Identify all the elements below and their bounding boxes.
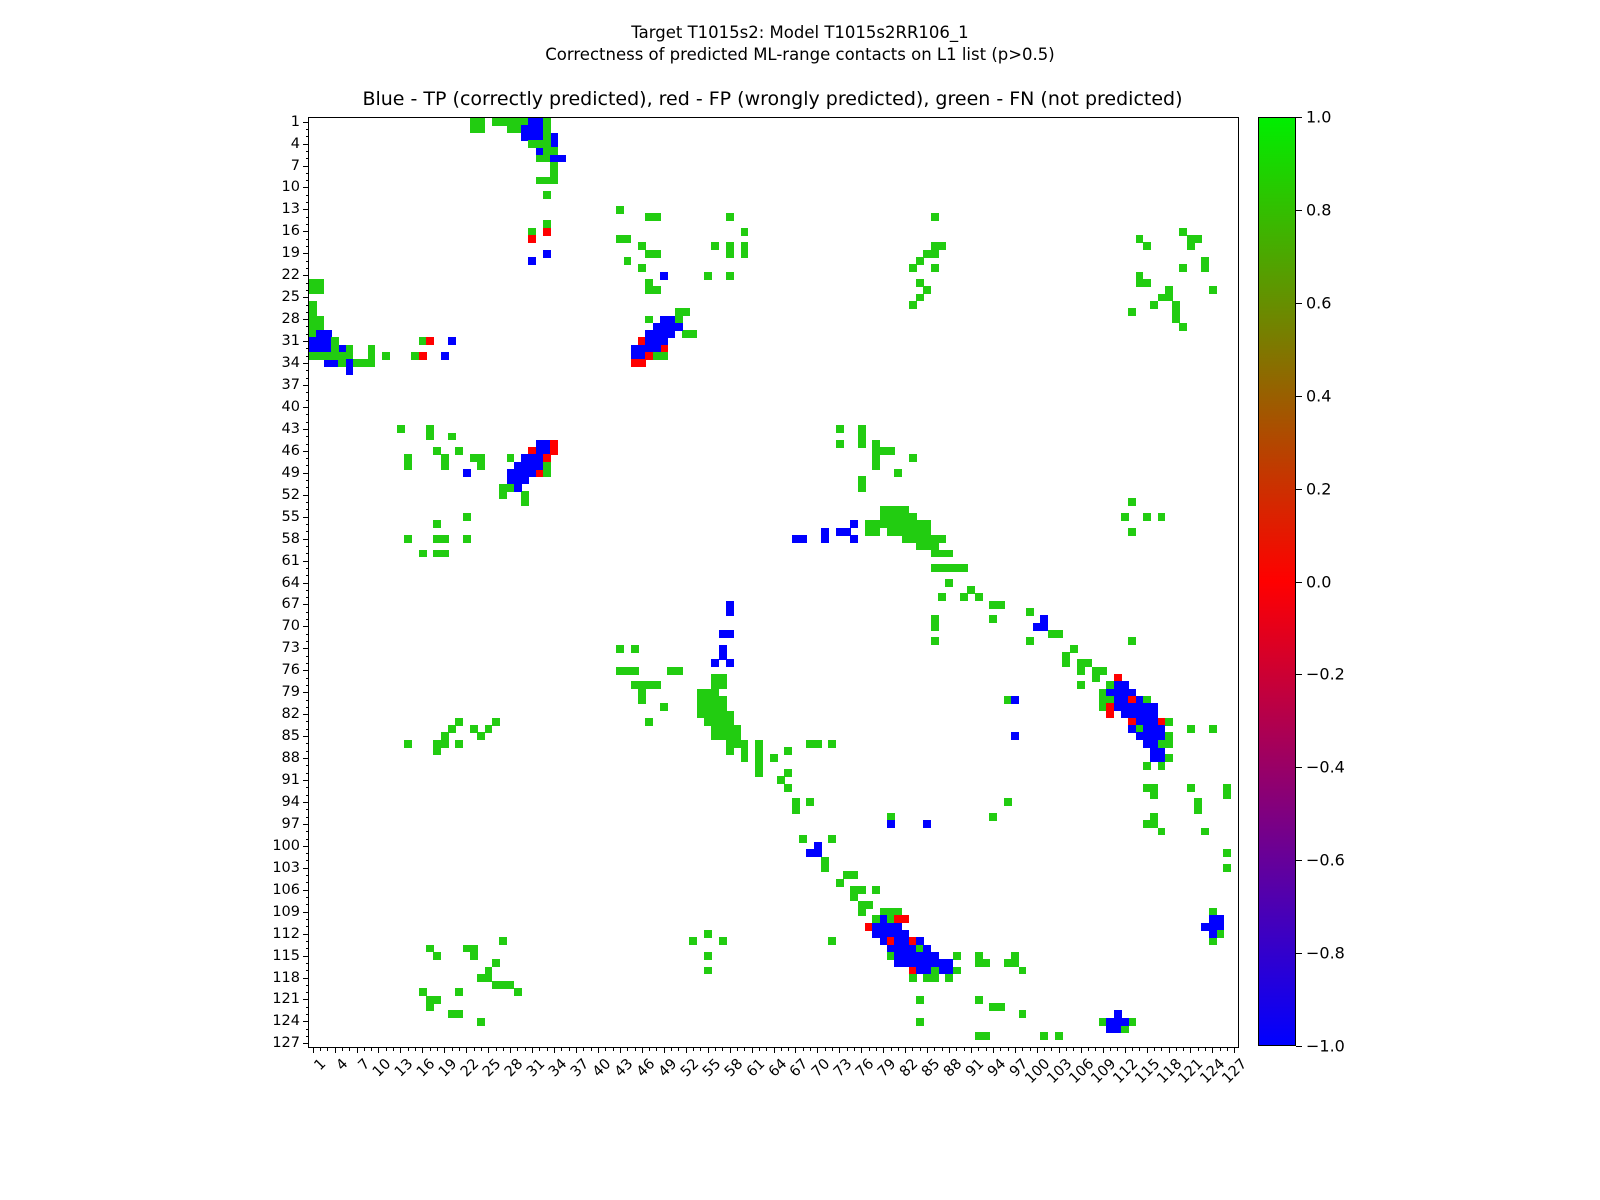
contact-cell — [836, 440, 844, 448]
contact-cell — [624, 235, 632, 243]
contact-cell — [667, 330, 675, 338]
contact-cell — [1055, 1032, 1063, 1040]
y-tick-minor — [306, 1014, 310, 1015]
contact-cell — [726, 250, 734, 258]
x-tick-minor — [393, 1047, 394, 1051]
suptitle-line-2: Correctness of predicted ML-range contac… — [0, 44, 1600, 66]
contact-cell — [1048, 630, 1056, 638]
contact-cell — [1201, 264, 1209, 272]
x-tick-minor — [781, 1047, 782, 1051]
contact-cell — [470, 952, 478, 960]
y-tick-label: 70 — [282, 618, 300, 634]
colorbar-tick — [1296, 953, 1302, 954]
contact-cell — [1158, 513, 1166, 521]
y-tick-minor — [306, 970, 310, 971]
colorbar-tick — [1296, 767, 1302, 768]
contact-cell — [1092, 674, 1100, 682]
y-tick-major — [303, 473, 309, 474]
x-tick-major — [1015, 1047, 1016, 1053]
y-tick-major — [303, 297, 309, 298]
contact-cell — [653, 286, 661, 294]
x-tick-minor — [912, 1047, 913, 1051]
contact-cell — [938, 242, 946, 250]
y-tick-minor — [306, 1007, 310, 1008]
contact-cell — [660, 337, 668, 345]
x-tick-minor — [693, 1047, 694, 1051]
x-tick-minor — [408, 1047, 409, 1051]
contact-cell — [1150, 301, 1158, 309]
contact-cell — [938, 593, 946, 601]
contact-cell — [828, 740, 836, 748]
y-tick-minor — [306, 180, 310, 181]
x-tick-label: 40 — [590, 1056, 614, 1080]
y-tick-major — [303, 670, 309, 671]
contact-cell — [1128, 308, 1136, 316]
colorbar-tick — [1296, 582, 1302, 583]
colorbar-tick — [1296, 674, 1302, 675]
contact-cell — [894, 915, 902, 923]
y-tick-minor — [306, 246, 310, 247]
contact-cell — [792, 806, 800, 814]
x-tick-major — [817, 1047, 818, 1053]
contact-cell — [463, 513, 471, 521]
contact-cell — [448, 337, 456, 345]
x-tick-minor — [386, 1047, 387, 1051]
x-tick-minor — [569, 1047, 570, 1051]
x-tick-major — [686, 1047, 687, 1053]
x-tick-minor — [1139, 1047, 1140, 1051]
y-tick-minor — [306, 1029, 310, 1030]
y-tick-minor — [306, 290, 310, 291]
contact-cell — [872, 528, 880, 536]
contact-cell — [441, 550, 449, 558]
y-tick-major — [303, 319, 309, 320]
contact-cell — [1128, 498, 1136, 506]
contact-cell — [784, 784, 792, 792]
y-tick-label: 16 — [282, 223, 300, 239]
contact-cell — [368, 359, 376, 367]
x-tick-minor — [1161, 1047, 1162, 1051]
contact-cell — [741, 228, 749, 236]
x-tick-label: 55 — [700, 1056, 724, 1080]
contact-cell — [923, 974, 931, 982]
contact-cell — [1165, 754, 1173, 762]
y-tick-label: 91 — [282, 772, 300, 788]
x-tick-minor — [481, 1047, 482, 1051]
y-tick-minor — [306, 663, 310, 664]
contact-cell — [858, 484, 866, 492]
x-tick-minor — [320, 1047, 321, 1051]
contact-cell — [543, 469, 551, 477]
x-tick-major — [1169, 1047, 1170, 1053]
x-tick-minor — [1066, 1047, 1067, 1051]
colorbar-tick-label: 0.6 — [1306, 293, 1331, 312]
x-tick-major — [554, 1047, 555, 1053]
contact-cell — [1026, 608, 1034, 616]
contact-cell — [514, 484, 522, 492]
contact-cell — [1194, 806, 1202, 814]
contact-cell — [404, 462, 412, 470]
x-tick-minor — [452, 1047, 453, 1051]
contact-cell — [821, 535, 829, 543]
x-tick-minor — [942, 1047, 943, 1051]
contact-cell — [931, 974, 939, 982]
y-tick-minor — [306, 817, 310, 818]
x-tick-minor — [722, 1047, 723, 1051]
x-tick-minor — [649, 1047, 650, 1051]
contact-cell — [660, 703, 668, 711]
x-tick-minor — [700, 1047, 701, 1051]
y-tick-minor — [306, 882, 310, 883]
y-tick-minor — [306, 195, 310, 196]
contact-cell — [741, 250, 749, 258]
contact-cell — [945, 579, 953, 587]
y-tick-minor — [306, 202, 310, 203]
x-tick-minor — [744, 1047, 745, 1051]
y-tick-minor — [306, 729, 310, 730]
contact-cell — [821, 857, 829, 865]
contact-cell — [1128, 528, 1136, 536]
contact-cell — [865, 901, 873, 909]
y-tick-major — [303, 999, 309, 1000]
y-tick-minor — [306, 634, 310, 635]
contact-cell — [455, 447, 463, 455]
contact-cell — [477, 1018, 485, 1026]
x-tick-label: 37 — [568, 1056, 592, 1080]
y-tick-major — [303, 1021, 309, 1022]
contact-cell — [836, 425, 844, 433]
contact-cell — [1026, 637, 1034, 645]
contact-cell — [455, 988, 463, 996]
y-tick-minor — [306, 414, 310, 415]
contact-cell — [638, 696, 646, 704]
y-tick-minor — [306, 444, 310, 445]
x-tick-minor — [678, 1047, 679, 1051]
contact-cell — [521, 498, 529, 506]
contact-cell — [543, 191, 551, 199]
y-tick-minor — [306, 326, 310, 327]
contact-cell — [1143, 820, 1151, 828]
x-tick-minor — [342, 1047, 343, 1051]
colorbar-tick — [1296, 210, 1302, 211]
contact-cell — [909, 974, 917, 982]
contact-cell — [433, 520, 441, 528]
y-tick-minor — [306, 919, 310, 920]
contact-cell — [528, 469, 536, 477]
y-tick-major — [303, 451, 309, 452]
contact-cell — [726, 630, 734, 638]
y-tick-minor — [306, 524, 310, 525]
x-tick-minor — [1030, 1047, 1031, 1051]
y-tick-label: 28 — [282, 311, 300, 327]
contact-cell — [887, 820, 895, 828]
contact-cell — [404, 535, 412, 543]
y-tick-major — [303, 122, 309, 123]
y-tick-minor — [306, 458, 310, 459]
x-tick-major — [730, 1047, 731, 1053]
y-tick-minor — [306, 217, 310, 218]
contact-cell — [1136, 272, 1144, 280]
y-tick-label: 106 — [272, 882, 300, 898]
y-tick-major — [303, 407, 309, 408]
x-tick-major — [993, 1047, 994, 1053]
colorbar-tick-label: −0.2 — [1306, 665, 1345, 684]
contact-cell — [689, 937, 697, 945]
contact-cell — [653, 213, 661, 221]
contact-cell — [1223, 849, 1231, 857]
contact-cell — [645, 718, 653, 726]
x-tick-minor — [561, 1047, 562, 1051]
contact-cell — [704, 930, 712, 938]
colorbar[interactable]: 1.00.80.60.40.20.0−0.2−0.4−0.6−0.8−1.0 — [1258, 117, 1296, 1046]
contact-cell — [448, 725, 456, 733]
y-tick-minor — [306, 853, 310, 854]
contact-cell — [1194, 235, 1202, 243]
contact-cell — [419, 352, 427, 360]
y-tick-minor — [306, 575, 310, 576]
x-tick-minor — [1176, 1047, 1177, 1051]
contact-cell — [872, 886, 880, 894]
contact-cell — [543, 250, 551, 258]
contact-cell — [441, 352, 449, 360]
y-tick-label: 37 — [282, 377, 300, 393]
y-tick-minor — [306, 765, 310, 766]
x-tick-major — [664, 1047, 665, 1053]
x-tick-minor — [1073, 1047, 1074, 1051]
x-tick-minor — [898, 1047, 899, 1051]
x-tick-minor — [1095, 1047, 1096, 1051]
x-tick-label: 31 — [524, 1056, 548, 1080]
contact-cell — [836, 879, 844, 887]
y-tick-minor — [306, 378, 310, 379]
x-tick-major — [642, 1047, 643, 1053]
y-tick-minor — [306, 502, 310, 503]
y-tick-minor — [306, 773, 310, 774]
contact-cell — [441, 740, 449, 748]
contact-cell — [675, 323, 683, 331]
contact-cell — [653, 681, 661, 689]
x-tick-minor — [810, 1047, 811, 1051]
contact-cell — [631, 667, 639, 675]
contact-cell — [982, 1032, 990, 1040]
x-tick-minor — [364, 1047, 365, 1051]
y-tick-minor — [306, 487, 310, 488]
y-tick-minor — [306, 656, 310, 657]
y-tick-major — [303, 1043, 309, 1044]
contact-cell — [1121, 513, 1129, 521]
contact-cell — [960, 593, 968, 601]
y-tick-major — [303, 166, 309, 167]
y-tick-label: 1 — [291, 114, 300, 130]
y-tick-minor — [306, 465, 310, 466]
contact-cell — [653, 352, 661, 360]
x-tick-minor — [934, 1047, 935, 1051]
y-tick-major — [303, 978, 309, 979]
y-tick-label: 61 — [282, 553, 300, 569]
y-tick-minor — [306, 875, 310, 876]
y-tick-major — [303, 231, 309, 232]
contact-cell — [989, 615, 997, 623]
x-tick-minor — [539, 1047, 540, 1051]
contact-map-plot[interactable]: 1471013161922252831343740434649525558616… — [308, 117, 1239, 1048]
x-tick-minor — [1088, 1047, 1089, 1051]
x-tick-major — [378, 1047, 379, 1053]
contact-cell — [1216, 930, 1224, 938]
colorbar-tick — [1296, 117, 1302, 118]
colorbar-tick — [1296, 303, 1302, 304]
x-tick-major — [839, 1047, 840, 1053]
contact-cell — [1143, 762, 1151, 770]
y-tick-label: 103 — [272, 860, 300, 876]
contact-cell — [975, 952, 983, 960]
x-tick-label: 43 — [612, 1056, 636, 1080]
colorbar-tick — [1296, 860, 1302, 861]
y-tick-major — [303, 495, 309, 496]
contact-cell — [858, 886, 866, 894]
contact-cell — [784, 769, 792, 777]
y-tick-major — [303, 583, 309, 584]
x-tick-label: 82 — [897, 1056, 921, 1080]
y-tick-label: 31 — [282, 333, 300, 349]
x-tick-minor — [591, 1047, 592, 1051]
contact-cell — [631, 645, 639, 653]
y-tick-major — [303, 253, 309, 254]
contact-cell — [550, 447, 558, 455]
contact-cell — [806, 798, 814, 806]
x-tick-minor — [766, 1047, 767, 1051]
y-tick-minor — [306, 305, 310, 306]
y-tick-minor — [306, 392, 310, 393]
x-tick-minor — [832, 1047, 833, 1051]
y-tick-label: 85 — [282, 728, 300, 744]
colorbar-tick-label: 0.4 — [1306, 386, 1331, 405]
x-tick-minor — [525, 1047, 526, 1051]
x-tick-major — [905, 1047, 906, 1053]
contact-cell — [1143, 279, 1151, 287]
y-tick-major — [303, 517, 309, 518]
contact-cell — [931, 637, 939, 645]
x-tick-major — [1190, 1047, 1191, 1053]
y-tick-major — [303, 934, 309, 935]
contact-cell — [1223, 864, 1231, 872]
y-tick-minor — [306, 809, 310, 810]
contact-cell — [455, 718, 463, 726]
y-tick-minor — [306, 312, 310, 313]
contact-cell — [719, 937, 727, 945]
y-tick-minor — [306, 268, 310, 269]
x-tick-major — [795, 1047, 796, 1053]
y-tick-label: 97 — [282, 816, 300, 832]
x-tick-label: 85 — [919, 1056, 943, 1080]
contact-cell — [711, 242, 719, 250]
contact-cell — [1201, 828, 1209, 836]
colorbar-tick-label: −1.0 — [1306, 1037, 1345, 1056]
x-tick-minor — [635, 1047, 636, 1051]
colorbar-tick-label: 1.0 — [1306, 108, 1331, 127]
y-tick-minor — [306, 685, 310, 686]
y-tick-major — [303, 144, 309, 145]
x-tick-major — [1147, 1047, 1148, 1053]
contact-cell — [1128, 637, 1136, 645]
contact-cell — [726, 659, 734, 667]
x-tick-major — [1234, 1047, 1235, 1053]
x-tick-major — [708, 1047, 709, 1053]
y-tick-label: 25 — [282, 289, 300, 305]
contact-cell — [931, 264, 939, 272]
contact-cell — [1106, 703, 1114, 711]
contact-cell — [1040, 1032, 1048, 1040]
y-tick-major — [303, 846, 309, 847]
contact-cell — [1004, 798, 1012, 806]
contact-cell — [492, 718, 500, 726]
y-tick-label: 79 — [282, 684, 300, 700]
contact-cell — [426, 433, 434, 441]
contact-cell — [909, 264, 917, 272]
x-tick-minor — [1132, 1047, 1133, 1051]
contact-cell — [1077, 667, 1085, 675]
x-tick-major — [313, 1047, 314, 1053]
x-tick-minor — [847, 1047, 848, 1051]
y-tick-minor — [306, 531, 310, 532]
contact-cell — [931, 250, 939, 258]
contact-cell — [726, 608, 734, 616]
contact-cell — [945, 974, 953, 982]
y-tick-minor — [306, 700, 310, 701]
x-tick-minor — [583, 1047, 584, 1051]
x-tick-minor — [327, 1047, 328, 1051]
contact-matrix[interactable] — [309, 118, 1238, 1047]
contact-cell — [858, 908, 866, 916]
x-tick-minor — [605, 1047, 606, 1051]
y-tick-label: 94 — [282, 794, 300, 810]
x-tick-minor — [459, 1047, 460, 1051]
x-tick-minor — [474, 1047, 475, 1051]
x-tick-major — [357, 1047, 358, 1053]
x-tick-major — [466, 1047, 467, 1053]
contact-cell — [485, 725, 493, 733]
contact-cell — [916, 257, 924, 265]
x-tick-minor — [1022, 1047, 1023, 1051]
contact-cell — [521, 476, 529, 484]
y-tick-minor — [306, 436, 310, 437]
y-tick-minor — [306, 422, 310, 423]
x-tick-minor — [803, 1047, 804, 1051]
axes-title: Blue - TP (correctly predicted), red - F… — [308, 88, 1237, 110]
y-tick-minor — [306, 546, 310, 547]
x-tick-major — [335, 1047, 336, 1053]
contact-cell — [1150, 791, 1158, 799]
y-tick-minor — [306, 787, 310, 788]
contact-cell — [1121, 1025, 1129, 1033]
contact-cell — [1158, 740, 1166, 748]
y-tick-major — [303, 385, 309, 386]
y-tick-minor — [306, 839, 310, 840]
contact-cell — [426, 1003, 434, 1011]
x-tick-minor — [1205, 1047, 1206, 1051]
suptitle-line-1: Target T1015s2: Model T1015s2RR106_1 — [0, 22, 1600, 44]
y-tick-minor — [306, 743, 310, 744]
contact-cell — [1011, 952, 1019, 960]
y-tick-minor — [306, 239, 310, 240]
x-tick-minor — [503, 1047, 504, 1051]
contact-cell — [850, 535, 858, 543]
colorbar-tick-label: −0.4 — [1306, 758, 1345, 777]
x-tick-major — [532, 1047, 533, 1053]
contact-cell — [1011, 732, 1019, 740]
y-tick-label: 118 — [272, 970, 300, 986]
x-tick-minor — [437, 1047, 438, 1051]
x-tick-label: 34 — [546, 1056, 570, 1080]
